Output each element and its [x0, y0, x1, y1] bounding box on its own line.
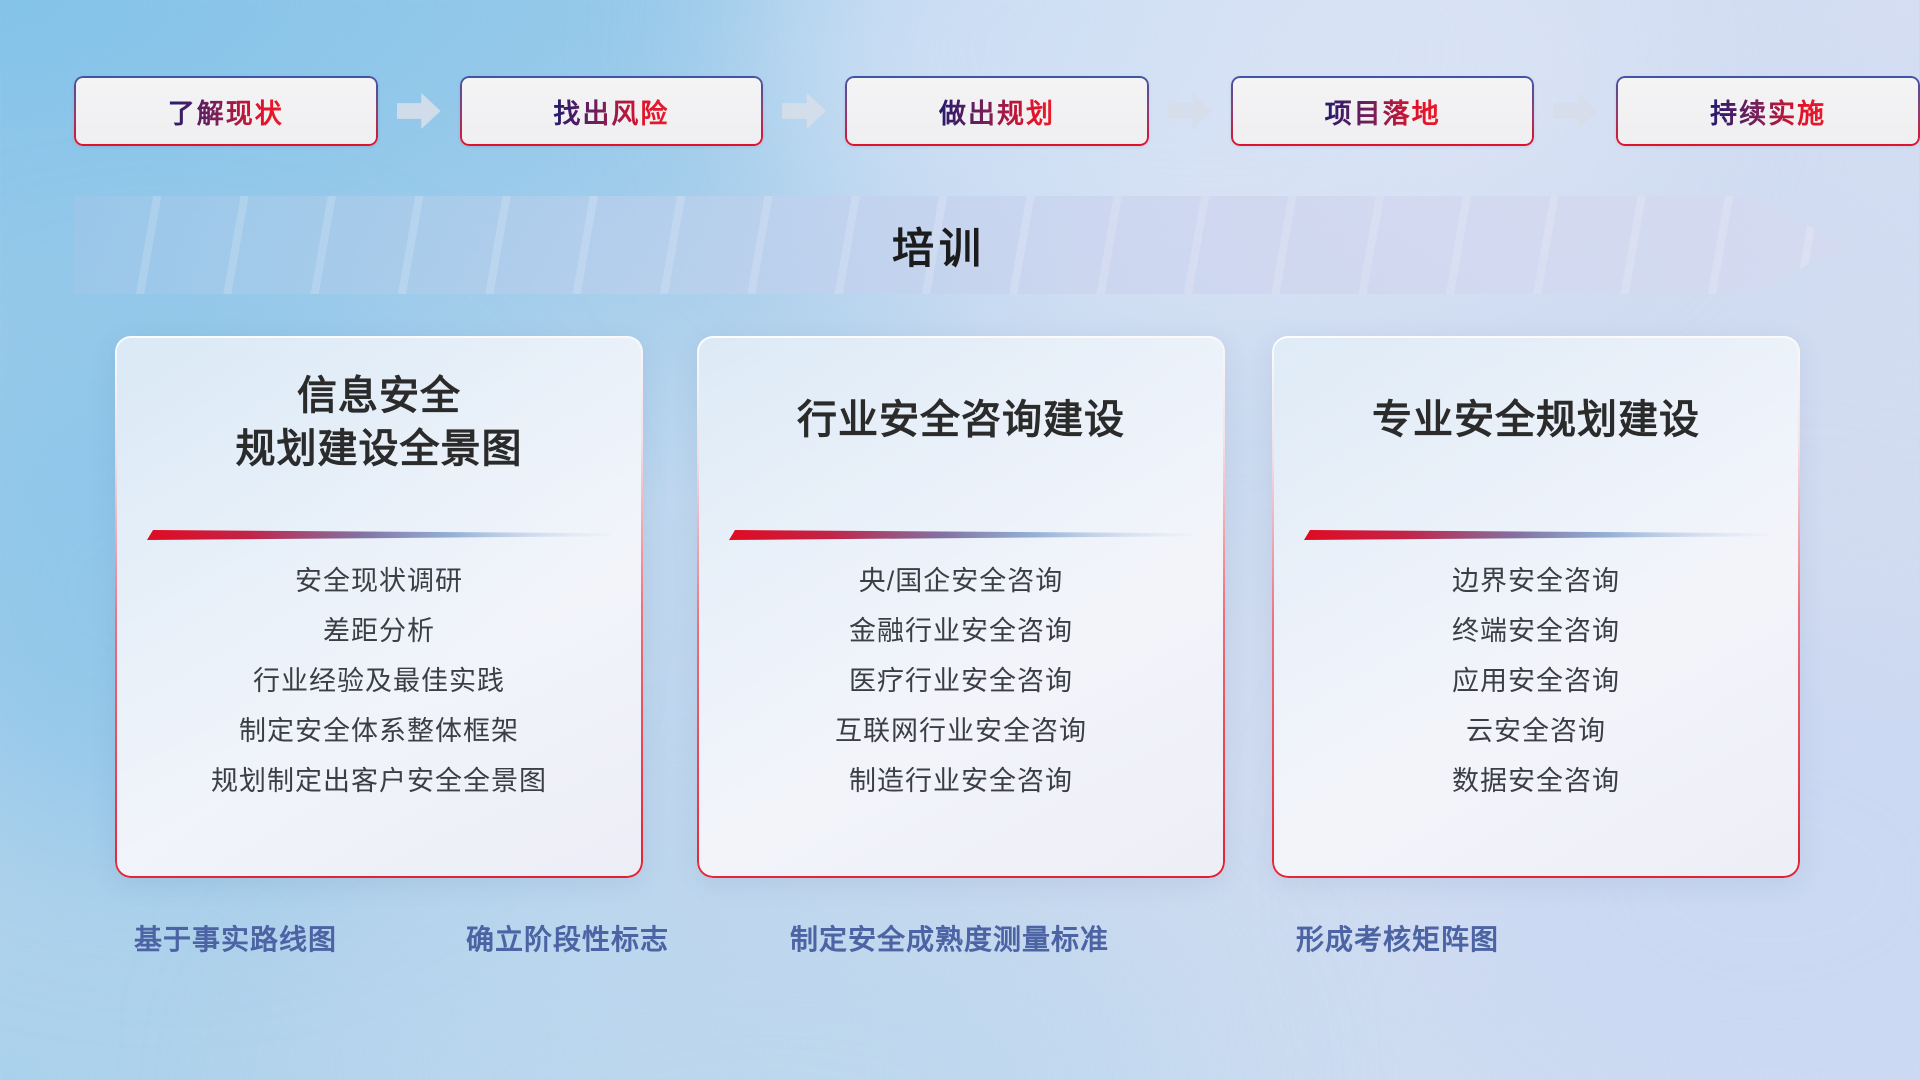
- list-item: 差距分析: [141, 618, 617, 645]
- caption-phase-milestones: 确立阶段性标志: [466, 918, 669, 958]
- list-item: 制定安全体系整体框架: [141, 718, 617, 745]
- caption-fact-based-roadmap: 基于事实路线图: [134, 918, 337, 958]
- step-arrow-icon-3: [1168, 93, 1212, 129]
- process-step-5-label: 持续实施: [1710, 92, 1826, 131]
- card-1-title: 信息安全 规划建设全景图: [143, 370, 615, 476]
- list-item: 制造行业安全咨询: [723, 768, 1199, 795]
- card-1-accent-rule: [147, 528, 611, 541]
- training-banner: 培训: [74, 196, 1844, 294]
- list-item: 行业经验及最佳实践: [141, 668, 617, 695]
- card-group: 信息安全 规划建设全景图 安全现状调研 差距分析 行业经验及最佳实践: [0, 336, 1920, 876]
- list-item: 央/国企安全咨询: [723, 568, 1199, 595]
- list-item: 安全现状调研: [141, 568, 617, 595]
- list-item: 云安全咨询: [1298, 718, 1774, 745]
- process-step-2[interactable]: 找出风险: [460, 76, 764, 146]
- process-step-4[interactable]: 项目落地: [1231, 76, 1535, 146]
- process-step-3[interactable]: 做出规划: [845, 76, 1149, 146]
- card-3-accent-rule: [1304, 528, 1768, 541]
- card-3-list: 边界安全咨询 终端安全咨询 应用安全咨询 云安全咨询 数据安全咨询: [1272, 568, 1800, 795]
- process-step-1-label: 了解现状: [168, 92, 284, 131]
- caption-row: 基于事实路线图 确立阶段性标志 制定安全成熟度测量标准 形成考核矩阵图: [0, 918, 1920, 978]
- list-item: 金融行业安全咨询: [723, 618, 1199, 645]
- card-2-title: 行业安全咨询建设: [725, 394, 1197, 447]
- process-step-row: 了解现状 找出风险 做出规划 项目落地 持续实施: [0, 72, 1920, 150]
- process-step-1[interactable]: 了解现状: [74, 76, 378, 146]
- caption-assessment-matrix: 形成考核矩阵图: [1296, 918, 1499, 958]
- process-step-2-label: 找出风险: [553, 92, 669, 131]
- training-banner-title: 培训: [892, 215, 986, 276]
- step-arrow-icon-2: [782, 93, 826, 129]
- list-item: 应用安全咨询: [1298, 668, 1774, 695]
- card-professional-security-planning[interactable]: 专业安全规划建设 边界安全咨询 终端安全咨询 应用安全咨询: [1272, 336, 1800, 878]
- step-arrow-icon-4: [1553, 93, 1597, 129]
- card-2-header: 行业安全咨询建设: [697, 394, 1225, 447]
- list-item: 互联网行业安全咨询: [723, 718, 1199, 745]
- list-item: 规划制定出客户安全全景图: [141, 768, 617, 795]
- card-2-accent-rule: [729, 528, 1193, 541]
- card-1-list: 安全现状调研 差距分析 行业经验及最佳实践 制定安全体系整体框架 规划制定出客户…: [115, 568, 643, 795]
- list-item: 数据安全咨询: [1298, 768, 1774, 795]
- card-3-title: 专业安全规划建设: [1300, 394, 1772, 447]
- background-blob-bottom: [300, 880, 1200, 1080]
- caption-maturity-measurement-standard: 制定安全成熟度测量标准: [790, 918, 1109, 958]
- card-information-security-blueprint[interactable]: 信息安全 规划建设全景图 安全现状调研 差距分析 行业经验及最佳实践: [115, 336, 643, 878]
- list-item: 终端安全咨询: [1298, 618, 1774, 645]
- card-2-list: 央/国企安全咨询 金融行业安全咨询 医疗行业安全咨询 互联网行业安全咨询 制造行…: [697, 568, 1225, 795]
- step-arrow-icon-1: [397, 93, 441, 129]
- list-item: 边界安全咨询: [1298, 568, 1774, 595]
- process-step-5[interactable]: 持续实施: [1616, 76, 1920, 146]
- card-1-header: 信息安全 规划建设全景图: [115, 370, 643, 476]
- card-industry-security-consulting[interactable]: 行业安全咨询建设 央/国企安全咨询 金融行业安全咨询 医疗行业安全咨: [697, 336, 1225, 878]
- process-step-3-label: 做出规划: [939, 92, 1055, 131]
- process-step-4-label: 项目落地: [1325, 92, 1441, 131]
- list-item: 医疗行业安全咨询: [723, 668, 1199, 695]
- card-3-header: 专业安全规划建设: [1272, 394, 1800, 447]
